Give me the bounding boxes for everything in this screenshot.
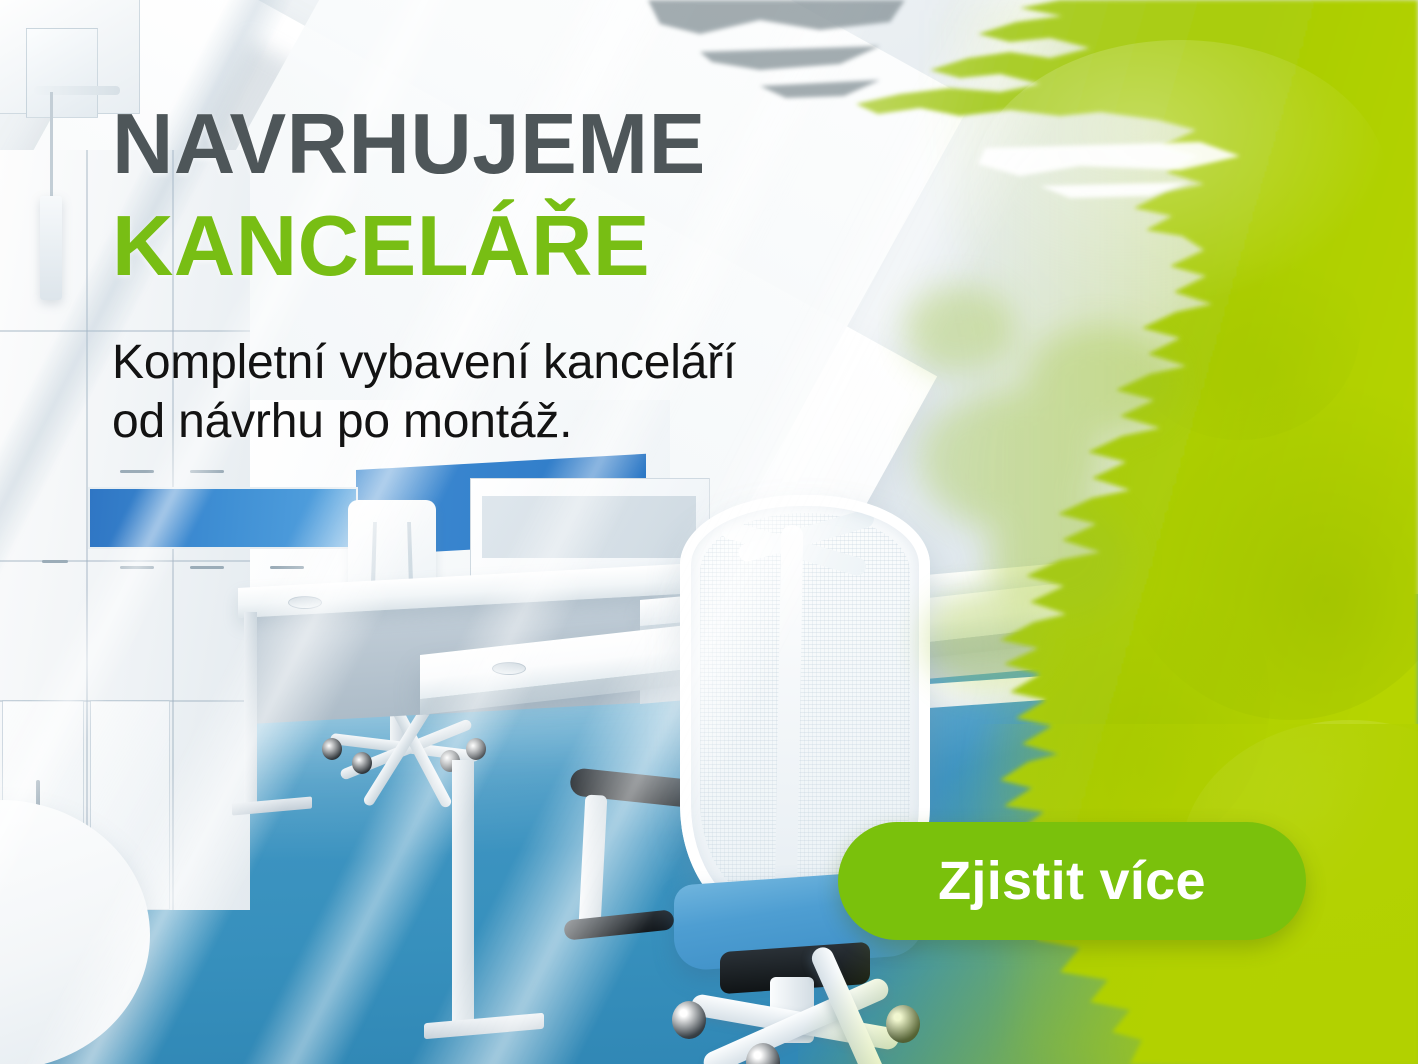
- cabinet-handle: [190, 470, 224, 473]
- cabinet-handle: [42, 560, 68, 563]
- learn-more-button[interactable]: Zjistit více: [838, 822, 1306, 940]
- front-desk-leg: [452, 760, 474, 1030]
- headline-line-1: NAVRHUJEME: [112, 104, 1012, 186]
- subtitle-line-1: Kompletní vybavení kanceláří: [112, 336, 736, 389]
- cabinet-seam: [0, 560, 250, 562]
- mesh-office-chair: [650, 495, 980, 1055]
- pendant-light-fixture: [40, 196, 62, 300]
- banner-copy: NAVRHUJEME KANCELÁŘE Kompletní vybavení …: [112, 104, 1012, 451]
- blue-recessed-shelf: [88, 487, 358, 549]
- desk-cable-grommet: [492, 662, 526, 675]
- desk-cable-grommet: [288, 596, 322, 609]
- cabinet-handle: [270, 566, 304, 569]
- headline-line-2: KANCELÁŘE: [112, 206, 1012, 288]
- chair-caster: [886, 1005, 920, 1043]
- background-chair-caster: [322, 738, 342, 760]
- cabinet-handle: [120, 470, 154, 473]
- promo-banner: NAVRHUJEME KANCELÁŘE Kompletní vybavení …: [0, 0, 1418, 1064]
- back-desk-leg: [244, 612, 257, 812]
- chair-caster: [672, 1001, 706, 1039]
- background-chair-caster: [352, 752, 372, 774]
- subtitle: Kompletní vybavení kanceláří od návrhu p…: [112, 334, 1012, 451]
- pendant-light-arm: [34, 86, 120, 95]
- background-chair-caster: [466, 738, 486, 760]
- subtitle-line-2: od návrhu po montáž.: [112, 395, 572, 448]
- cabinet-handle: [120, 566, 154, 569]
- cabinet-handle: [190, 566, 224, 569]
- pendant-light-rod: [50, 92, 53, 200]
- ceiling-cabinet-inner: [26, 28, 98, 118]
